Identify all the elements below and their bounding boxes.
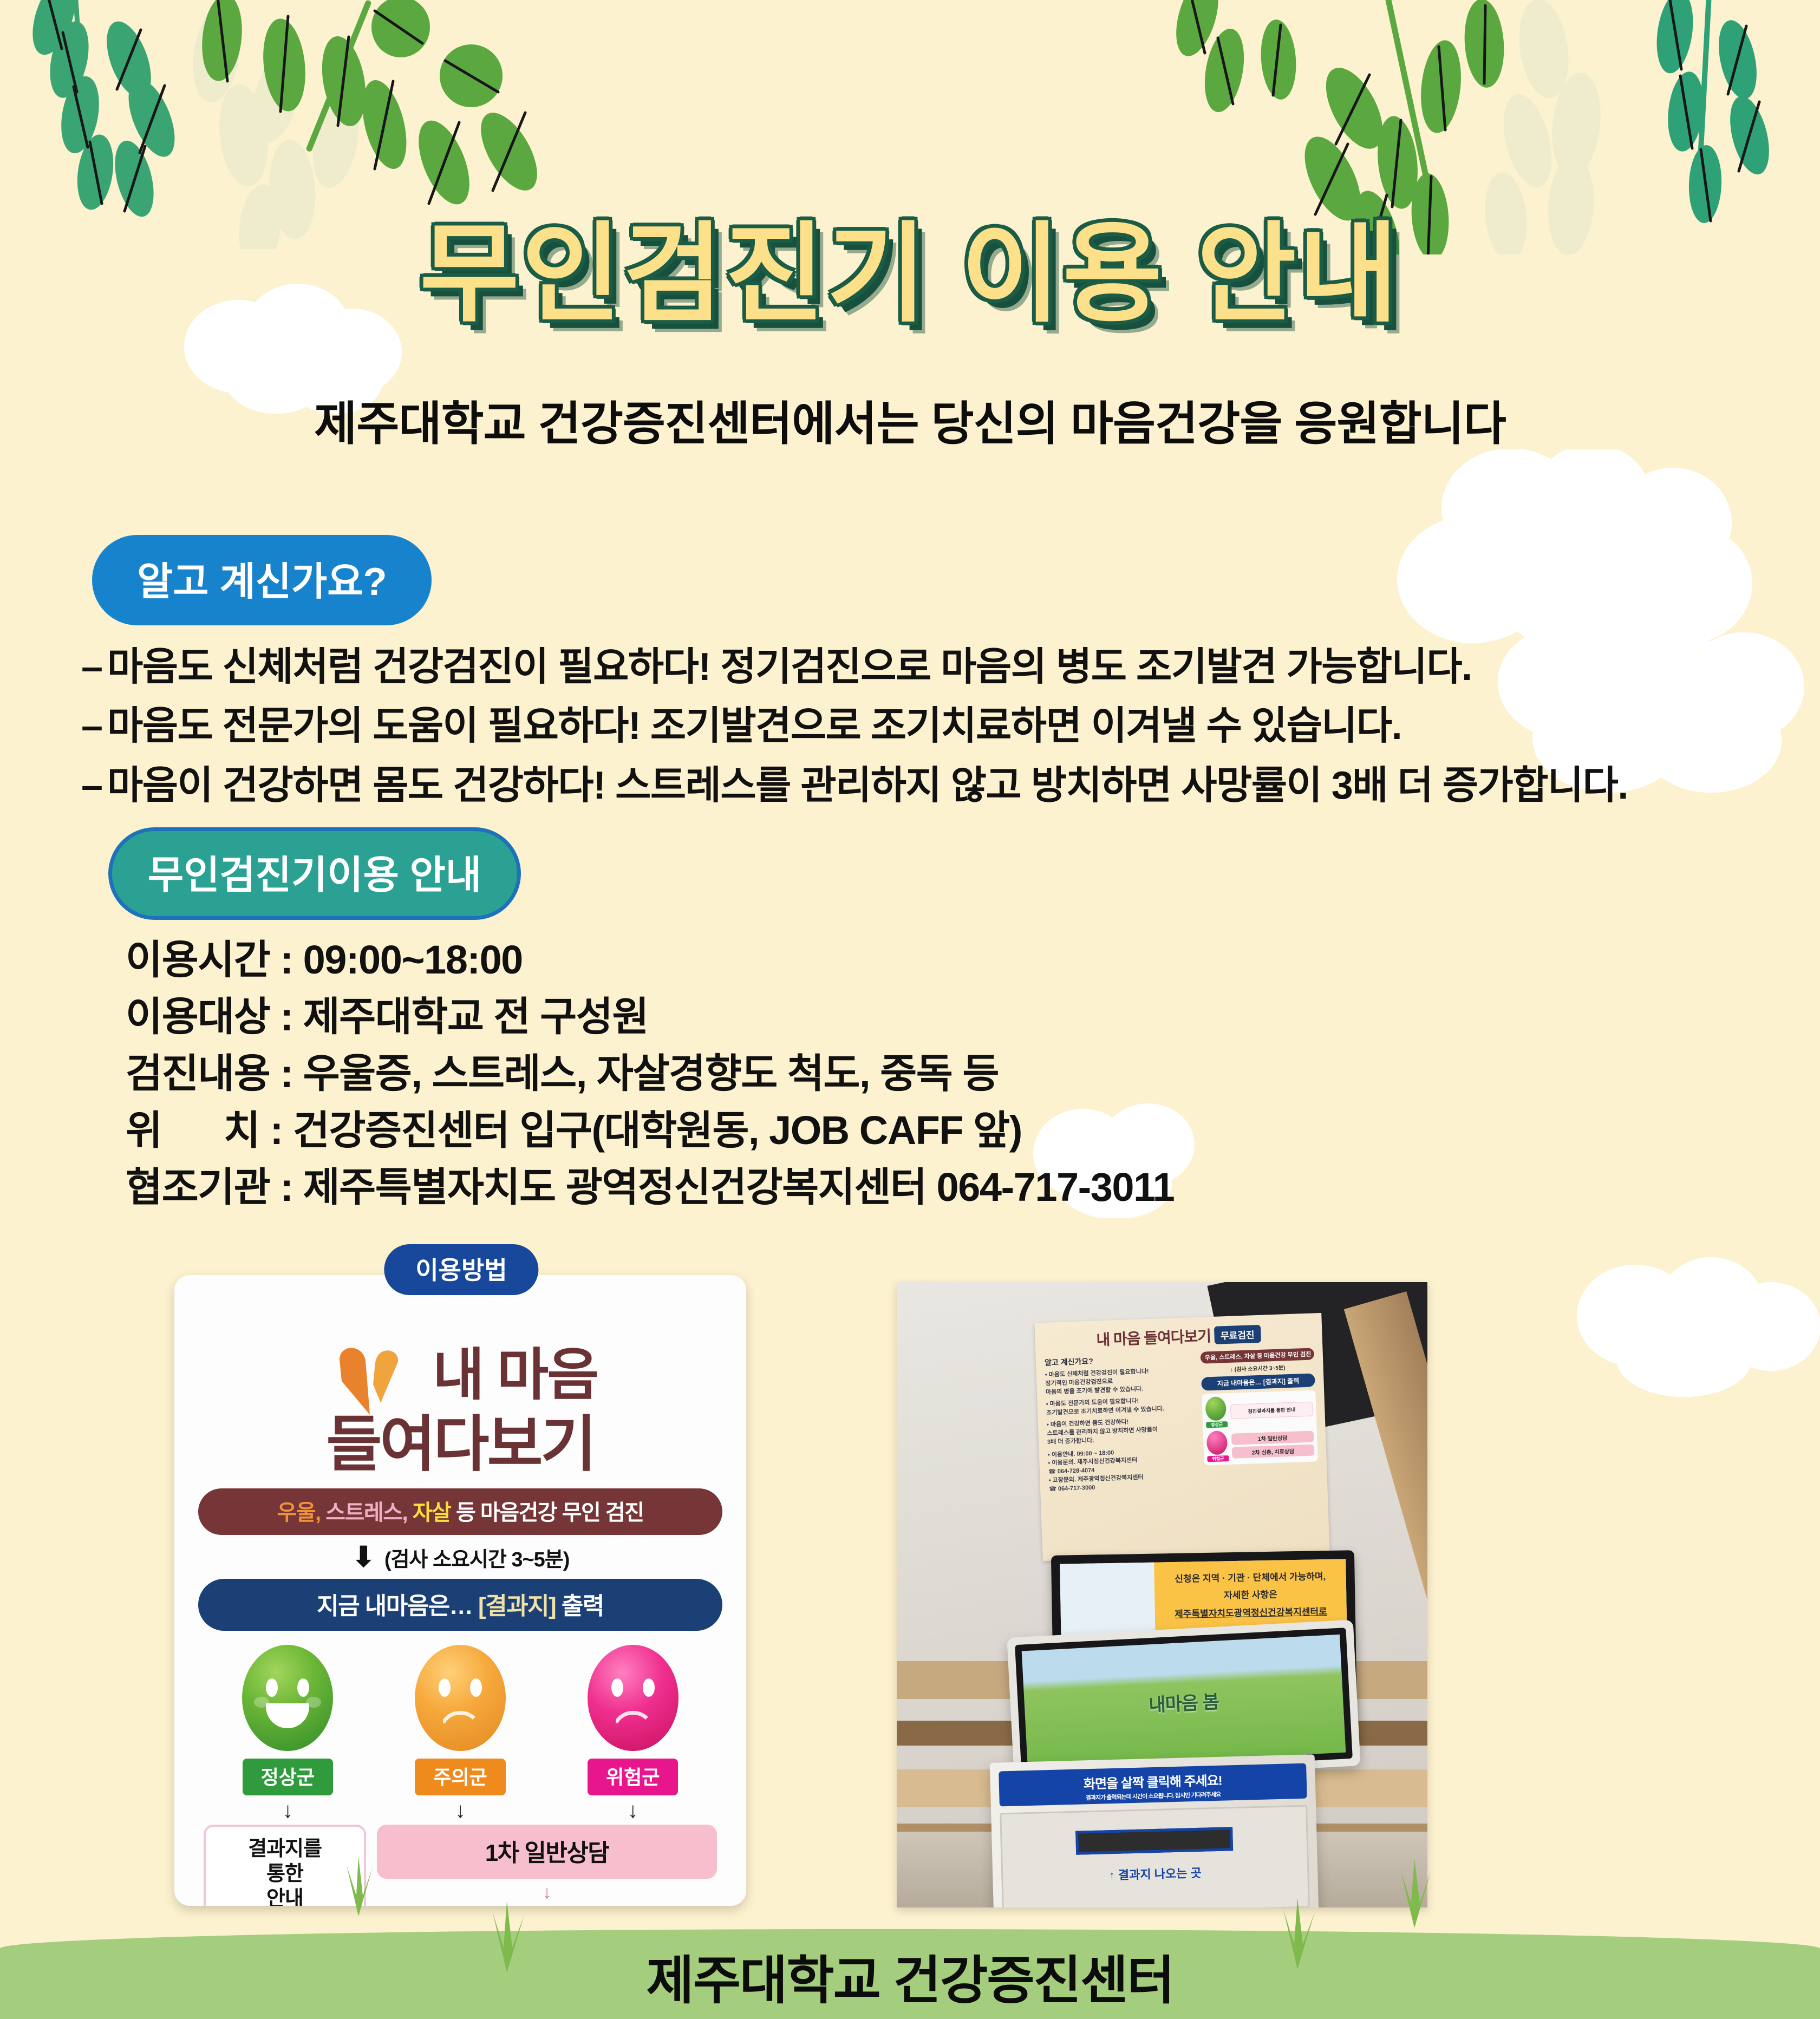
kiosk-screen-title: 내마음 봄 <box>1148 1687 1219 1717</box>
kiosk-click-instruction: 화면을 살짝 클릭해 주세요! 결과지가 출력되는데 시간이 소요됩니다. 잠시… <box>999 1763 1307 1807</box>
arrow-row: ⬇ (검사 소요시간 3~5분) <box>190 1543 731 1572</box>
crying-face-icon <box>588 1645 679 1751</box>
result-prefix: 지금 내마음은… <box>317 1593 472 1619</box>
bullet-dash-icon: – <box>81 697 107 756</box>
know-bullet-list: – 마음도 신체처럼 건강검진이 필요하다! 정기검진으로 마음의 병도 조기발… <box>81 638 1771 815</box>
bullet-text: 마음도 신체처럼 건강검진이 필요하다! 정기검진으로 마음의 병도 조기발견 … <box>107 638 1472 697</box>
wall-poster-question: 알고 계신가요? <box>1045 1352 1196 1368</box>
face-label-normal: 정상군 <box>243 1759 333 1795</box>
scope-word-stress: 스트레스, <box>325 1501 407 1525</box>
face-label-caution: 주의군 <box>415 1759 505 1795</box>
wall-poster-arrow-note: ↓ (검사 소요시간 3~5분) <box>1201 1362 1314 1374</box>
bullet-dash-icon: – <box>81 638 107 697</box>
face-group-normal: 정상군 <box>242 1645 333 1795</box>
wall-poster-contacts: • 이용안내. 09:00 ~ 18:00 • 이용문의. 제주시정신건강복지센… <box>1048 1446 1200 1494</box>
guide-info-list: 이용시간 : 09:00~18:00 이용대상 : 제주대학교 전 구성원 검진… <box>126 931 1174 1216</box>
footer: 제주대학교 건강증진센터 <box>0 1911 1820 2019</box>
section-badge-know: 알고 계신가요? <box>92 535 432 625</box>
arrow-down-icon-caution: ↓ <box>455 1801 466 1820</box>
result-pill: 지금 내마음은… [결과지] 출력 <box>198 1579 722 1631</box>
kiosk-click-text: 화면을 살짝 클릭해 주세요! <box>1084 1774 1223 1792</box>
happy-face-icon <box>242 1645 333 1751</box>
kiosk-photo: 내 마음 들여다보기 무료검진 알고 계신가요? • 마음도 신체처럼 건강검진… <box>897 1282 1427 1907</box>
arrow-down-icon-step: ↓ <box>377 1883 717 1902</box>
method-badge: 이용방법 <box>384 1244 538 1295</box>
wall-poster-happy-face-icon <box>1205 1396 1227 1421</box>
section-badge-guide: 무인검진기이용 안내 <box>108 827 521 920</box>
wall-poster-label-normal: 정상군 <box>1206 1421 1228 1428</box>
face-group-risk: 위험군 <box>588 1645 679 1795</box>
wall-poster-title: 내 마음 들여다보기 <box>1096 1324 1211 1350</box>
wall-poster: 내 마음 들여다보기 무료검진 알고 계신가요? • 마음도 신체처럼 건강검진… <box>1034 1313 1329 1561</box>
arrow-down-icon-risk: ↓ <box>628 1801 638 1820</box>
footer-organization: 제주대학교 건강증진센터 <box>0 1938 1820 2014</box>
outcome-box-step1: 1차 일반상담 <box>377 1825 717 1879</box>
info-row-partner: 협조기관 : 제주특별자치도 광역정신건강복지센터 064-717-3011 <box>126 1159 1174 1216</box>
media-row: 이용방법 내 마음 들여다보기 우울, 스트레스, 자살 등 마음건강 무인 검… <box>0 1234 1820 1884</box>
small-arrows-row: ↓ ↓ ↓ <box>190 1801 731 1820</box>
list-item: – 마음이 건강하면 몸도 건강하다! 스트레스를 관리하지 않고 방치하면 사… <box>81 756 1771 815</box>
brand-line-2: 들여다보기 <box>190 1413 731 1476</box>
page-subtitle: 제주대학교 건강증진센터에서는 당신의 마음건강을 응원합니다 <box>0 385 1820 453</box>
duration-note: (검사 소요시간 3~5분) <box>384 1543 570 1572</box>
wall-poster-scope-band: 우울, 스트레스, 자살 등 마음건강 무인 검진 <box>1201 1348 1315 1363</box>
wall-poster-bullet-1: • 마음도 신체처럼 건강검진이 필요합니다! 정기적인 마음건강검진으로 마음… <box>1045 1366 1196 1397</box>
slot-label-text: 결과지 나오는 곳 <box>1118 1866 1202 1882</box>
info-row-hours: 이용시간 : 09:00~18:00 <box>126 931 1174 988</box>
wall-poster-bullet-3: • 마음이 건강하면 몸도 건강하다! 스트레스를 관리하지 않고 방치하면 사… <box>1047 1416 1198 1447</box>
face-group-caution: 주의군 <box>415 1645 506 1795</box>
list-item: – 마음도 전문가의 도움이 필요하다! 조기발견으로 조기치료하면 이겨낼 수… <box>81 697 1771 756</box>
wall-poster-free-tag: 무료검진 <box>1214 1324 1261 1344</box>
face-label-risk: 위험군 <box>588 1759 678 1795</box>
grass-tuft-icon-1 <box>325 1846 395 1916</box>
wall-poster-label-risk: 위험군 <box>1207 1455 1229 1462</box>
page-title: 무인검진기 이용 안내 <box>0 208 1820 341</box>
info-row-target: 이용대상 : 제주대학교 전 구성원 <box>126 988 1174 1045</box>
wall-poster-result-step1: 1차 일반상담 <box>1231 1430 1314 1445</box>
wall-poster-result-normal: 검진결과지를 통한 안내 <box>1230 1402 1313 1419</box>
faces-row: 정상군 주의군 위험군 <box>190 1645 731 1795</box>
monitor-line-1: 신청은 지역 · 기관 · 단체에서 가능하며, <box>1162 1568 1339 1589</box>
hearts-icon <box>323 1335 426 1416</box>
outcome-flow-right: 1차 일반상담 ↓ 2차 심층, 치료상담 <box>377 1825 717 1906</box>
kiosk-screen[interactable]: 내마음 봄 <box>1015 1628 1353 1776</box>
kiosk-printout-slot <box>1075 1827 1233 1855</box>
wall-poster-result-band: 지금 내마음은… [결과지] 출력 <box>1201 1373 1315 1390</box>
kiosk-slot-label: ↑ 결과지 나오는 곳 <box>1108 1864 1202 1883</box>
brand-line-1: 내 마음 <box>433 1347 597 1403</box>
slot-arrow-icon: ↑ <box>1108 1868 1115 1882</box>
info-row-location: 위 치 : 건강증진센터 입구(대학원동, JOB CAFF 앞) <box>126 1102 1174 1159</box>
wall-poster-sad-face-icon <box>1206 1430 1228 1455</box>
arrow-down-icon-normal: ↓ <box>282 1801 293 1820</box>
method-poster-card: 내 마음 들여다보기 우울, 스트레스, 자살 등 마음건강 무인 검진 ⬇ (… <box>174 1275 746 1906</box>
wall-poster-bullet-2: • 마음도 전문가의 도움이 필요합니다! 조기발견으로 조기치료하면 이겨낼 … <box>1046 1395 1197 1418</box>
monitor-line-3: 제주특별자치도광역정신건강복지센터로 <box>1163 1603 1339 1623</box>
bullet-text: 마음도 전문가의 도움이 필요하다! 조기발견으로 조기치료하면 이겨낼 수 있… <box>107 697 1401 756</box>
scope-word-suicide: 자살 <box>413 1501 451 1525</box>
sad-face-icon <box>415 1645 506 1751</box>
kiosk-click-subtext: 결과지가 출력되는데 시간이 소요됩니다. 잠시만 기다려주세요 <box>1002 1788 1303 1805</box>
scope-pill: 우울, 스트레스, 자살 등 마음건강 무인 검진 <box>198 1488 722 1535</box>
method-brand: 내 마음 <box>190 1335 731 1416</box>
kiosk-body: 화면을 살짝 클릭해 주세요! 결과지가 출력되는데 시간이 소요됩니다. 잠시… <box>990 1754 1319 1907</box>
bullet-text: 마음이 건강하면 몸도 건강하다! 스트레스를 관리하지 않고 방치하면 사망률… <box>107 756 1628 815</box>
wall-poster-result-step2: 2차 심층, 치료상담 <box>1232 1444 1315 1458</box>
list-item: – 마음도 신체처럼 건강검진이 필요하다! 정기검진으로 마음의 병도 조기발… <box>81 638 1771 697</box>
result-tag: [결과지] <box>478 1593 556 1619</box>
info-row-content: 검진내용 : 우울증, 스트레스, 자살경향도 척도, 중독 등 <box>126 1045 1174 1102</box>
wall-poster-result-box: 정상군 검진결과지를 통한 안내 위험군 1차 일반상담 2차 심층, <box>1202 1390 1317 1465</box>
arrow-down-icon: ⬇ <box>351 1543 376 1572</box>
result-suffix: 출력 <box>562 1593 604 1619</box>
outcome-flow: 결과지를 통한 안내 1차 일반상담 ↓ 2차 심층, 치료상담 <box>190 1825 731 1906</box>
scope-rest: 등 마음건강 무인 검진 <box>456 1501 644 1525</box>
bullet-dash-icon: – <box>81 756 107 815</box>
scope-word-depression: 우울, <box>277 1501 320 1525</box>
